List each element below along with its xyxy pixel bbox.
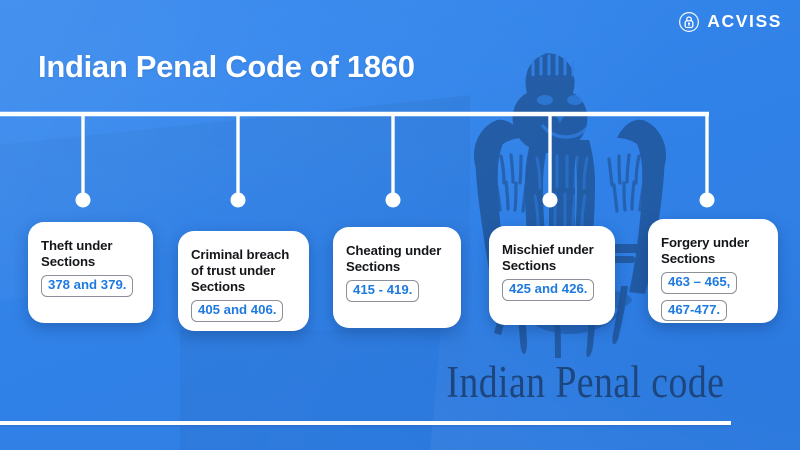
card-section-pill: 467-477.: [661, 300, 727, 322]
card-heading: Cheating under Sections: [346, 243, 448, 275]
card-cheating[interactable]: Cheating under Sections 415 - 419.: [333, 227, 461, 328]
page-title: Indian Penal Code of 1860: [38, 50, 415, 84]
acviss-logo[interactable]: ACVISS: [678, 11, 782, 33]
card-criminal-breach-of-trust[interactable]: Criminal breach of trust under Sections …: [178, 231, 309, 331]
card-forgery[interactable]: Forgery under Sections 463 – 465, 467-47…: [648, 219, 778, 323]
bottom-divider: [0, 421, 731, 425]
footer-wordmark: Indian Penal code: [446, 360, 723, 405]
rail-node-dots: [76, 193, 715, 208]
card-theft[interactable]: Theft under Sections 378 and 379.: [28, 222, 153, 323]
card-heading: Mischief under Sections: [502, 242, 602, 274]
lock-circle-icon: [678, 11, 700, 33]
card-mischief[interactable]: Mischief under Sections 425 and 426.: [489, 226, 615, 325]
card-heading: Forgery under Sections: [661, 235, 765, 267]
card-heading: Criminal breach of trust under Sections: [191, 247, 296, 295]
card-section-pill: 415 - 419.: [346, 280, 419, 302]
card-section-pill: 378 and 379.: [41, 275, 133, 297]
infographic-canvas: ACVISS Indian Penal Code of 1860 Theft u…: [0, 0, 800, 450]
rail-droppers: [83, 114, 707, 198]
logo-wordmark: ACVISS: [707, 13, 782, 31]
card-heading: Theft under Sections: [41, 238, 140, 270]
card-section-pill: 463 – 465,: [661, 272, 737, 294]
card-section-pill: 405 and 406.: [191, 300, 283, 322]
card-section-pill: 425 and 426.: [502, 279, 594, 301]
